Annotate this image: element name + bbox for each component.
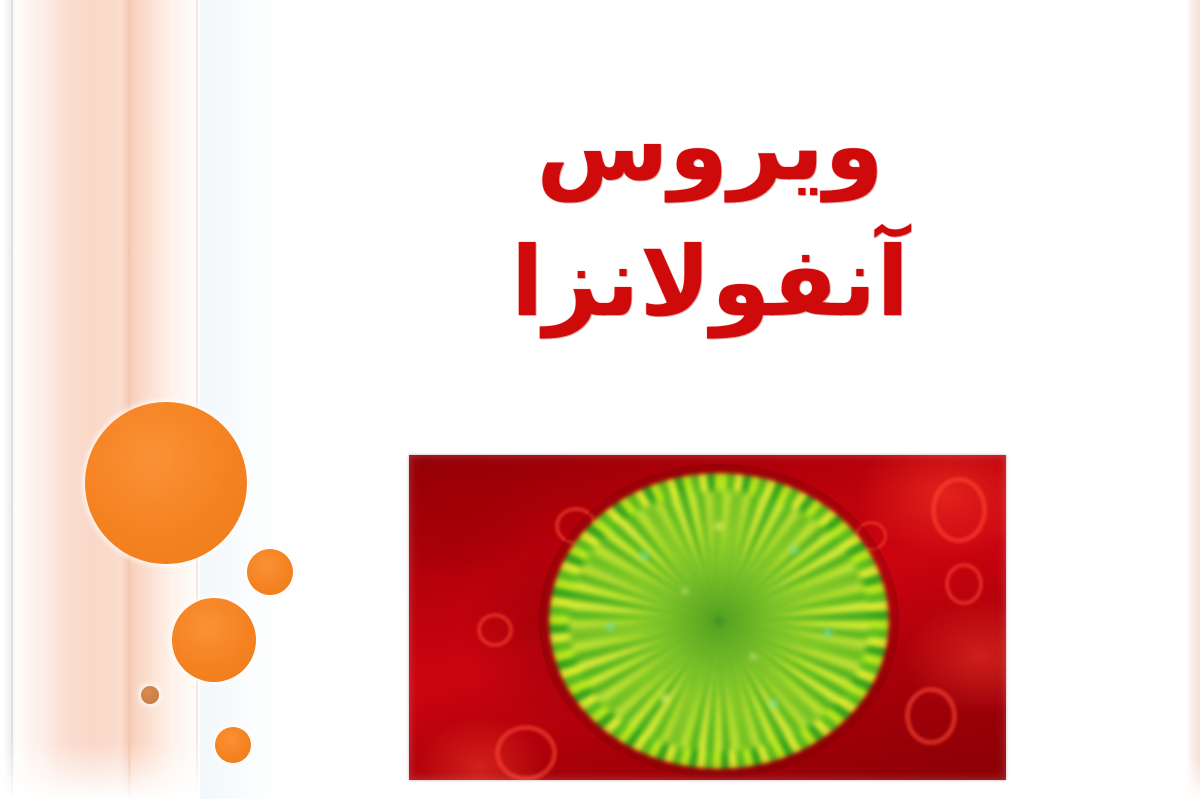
blood-cell-outline [905,687,957,745]
virion-rim [539,464,899,778]
slide-title: ویروس آنفولانزا [430,78,990,351]
stripe-hairline-1 [11,0,13,799]
virion-particle [549,473,889,769]
stripe-hairline-2 [128,0,131,799]
blood-cell-outline [931,477,987,543]
slide-canvas: ویروس آنفولانزا [0,0,1200,799]
decorative-bubble-xsmall [215,727,251,763]
influenza-virus-image [409,455,1006,780]
decorative-bubble-large [85,402,247,564]
blood-cell-outline [477,613,513,647]
decorative-bubble-tiny [141,686,159,704]
slide-title-line-1: ویروس [430,78,990,214]
decorative-bubble-small [247,549,293,595]
decorative-bubble-medium [172,598,256,682]
blood-cell-outline [495,725,557,780]
slide-title-line-2: آنفولانزا [430,214,990,350]
right-edge-stripe [1186,0,1200,799]
blood-cell-outline [945,563,983,605]
stripe-hairline-3 [196,0,198,799]
